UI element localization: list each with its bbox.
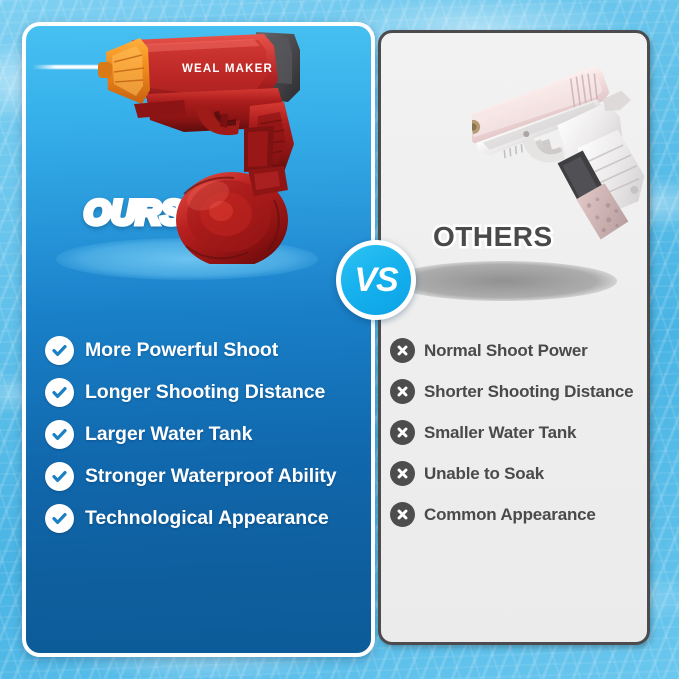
vs-label: VS	[354, 263, 397, 297]
brand-text: WEAL MAKER	[182, 63, 273, 75]
feature-label: Smaller Water Tank	[424, 423, 576, 443]
check-icon	[45, 504, 74, 533]
list-item: More Powerful Shoot	[45, 336, 350, 365]
others-feature-list: Normal Shoot Power Shorter Shooting Dist…	[390, 338, 640, 543]
x-icon	[390, 379, 415, 404]
check-icon	[45, 462, 74, 491]
list-item: Technological Appearance	[45, 504, 350, 533]
feature-label: Technological Appearance	[85, 507, 329, 530]
check-icon	[45, 420, 74, 449]
ours-water-gun: WEAL MAKER	[88, 24, 338, 264]
feature-label: More Powerful Shoot	[85, 339, 278, 362]
barrel-tip	[98, 62, 112, 78]
ours-feature-list: More Powerful Shoot Longer Shooting Dist…	[45, 336, 350, 546]
feature-label: Shorter Shooting Distance	[424, 382, 633, 402]
feature-label: Larger Water Tank	[85, 423, 252, 446]
list-item: Longer Shooting Distance	[45, 378, 350, 407]
feature-label: Longer Shooting Distance	[85, 381, 325, 404]
list-item: Unable to Soak	[390, 461, 640, 486]
list-item: Smaller Water Tank	[390, 420, 640, 445]
list-item: Larger Water Tank	[45, 420, 350, 449]
feature-label: Common Appearance	[424, 505, 596, 525]
vs-badge: VS	[336, 240, 416, 320]
others-water-gun	[472, 52, 662, 262]
feature-label: Normal Shoot Power	[424, 341, 588, 361]
others-product-shadow	[389, 261, 617, 301]
x-icon	[390, 420, 415, 445]
comparison-infographic: OURS	[0, 0, 679, 679]
list-item: Common Appearance	[390, 502, 640, 527]
list-item: Shorter Shooting Distance	[390, 379, 640, 404]
x-icon	[390, 461, 415, 486]
feature-label: Unable to Soak	[424, 464, 544, 484]
feature-label: Stronger Waterproof Ability	[85, 465, 337, 488]
list-item: Normal Shoot Power	[390, 338, 640, 363]
check-icon	[45, 378, 74, 407]
x-icon	[390, 338, 415, 363]
list-item: Stronger Waterproof Ability	[45, 462, 350, 491]
x-icon	[390, 502, 415, 527]
check-icon	[45, 336, 74, 365]
